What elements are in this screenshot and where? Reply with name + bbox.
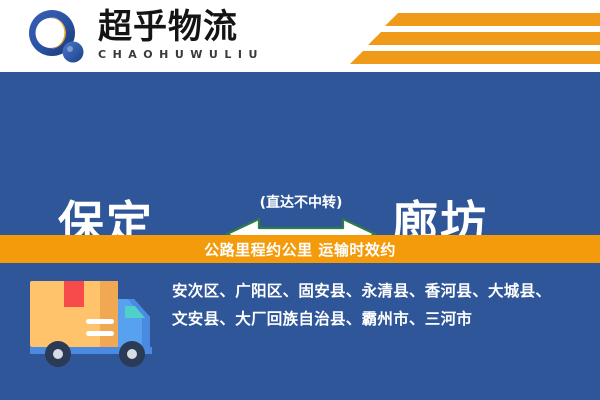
header-stripe-2 xyxy=(368,32,600,45)
distance-duration-text: 公路里程约公里 运输时效约 xyxy=(204,239,396,260)
brand-name-cn: 超乎物流 xyxy=(98,8,264,46)
header-stripe-3 xyxy=(350,51,600,64)
header-stripe-1 xyxy=(385,13,600,26)
coverage-area-list: 安次区、广阳区、固安县、永清县、香河县、大城县、 文安县、大厂回族自治县、霸州市… xyxy=(172,277,584,333)
header: 超乎物流 CHAOHUWULIU xyxy=(0,0,600,72)
brand-name-en: CHAOHUWULIU xyxy=(98,48,264,62)
circle-q-logo-icon xyxy=(26,9,90,65)
logistics-banner: 超乎物流 CHAOHUWULIU 保定 (直达不中转) 【往返运输】 廊坊 公路… xyxy=(0,0,600,400)
direct-shipping-note: (直达不中转) xyxy=(225,192,377,212)
brand-block: 超乎物流 CHAOHUWULIU xyxy=(98,8,264,62)
route-section: 保定 (直达不中转) 【往返运输】 廊坊 xyxy=(0,72,600,235)
distance-duration-bar: 公路里程约公里 运输时效约 xyxy=(0,235,600,263)
coverage-line: 文安县、大厂回族自治县、霸州市、三河市 xyxy=(172,305,584,333)
coverage-line: 安次区、广阳区、固安县、永清县、香河县、大城县、 xyxy=(172,277,584,305)
coverage-section: 安次区、广阳区、固安县、永清县、香河县、大城县、 文安县、大厂回族自治县、霸州市… xyxy=(0,263,600,400)
delivery-truck-icon xyxy=(22,275,162,375)
